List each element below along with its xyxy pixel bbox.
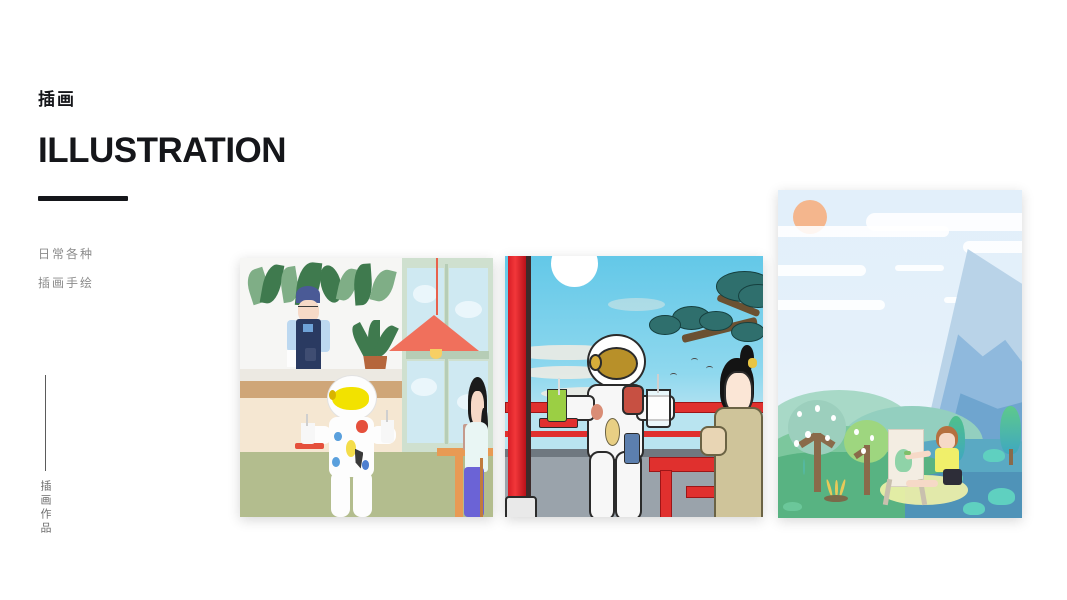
bush: [988, 488, 1015, 504]
window-cloud: [413, 285, 437, 302]
suit-shoulder-patch: [622, 385, 645, 415]
handed-cup-straw: [386, 410, 388, 421]
subtitle-line-2: 插画手绘: [38, 269, 94, 298]
green-drink-straw: [558, 378, 560, 394]
astronaut-visor: [332, 387, 368, 410]
blossom: [805, 431, 810, 437]
bush: [963, 502, 985, 515]
barista-bowtie: [303, 324, 313, 332]
handed-cup: [381, 420, 395, 443]
vertical-caption: 插画作品: [37, 480, 53, 536]
woman-robe: [714, 407, 762, 517]
suit-patch: [591, 404, 603, 420]
suit-dot-red: [356, 420, 367, 433]
suit-patch-blue: [624, 433, 640, 464]
astronaut-leg-right: [353, 471, 372, 517]
pine-canopy: [649, 315, 681, 335]
barista-napkin: [287, 350, 296, 367]
subtitle-line-1: 日常各种: [38, 240, 94, 269]
title-block: 插画 ILLUSTRATION: [38, 92, 338, 168]
woman-hair-tie: [748, 358, 757, 368]
tree-trunk: [1009, 449, 1013, 466]
astronaut-visor-knob: [589, 354, 602, 371]
page-title-en: ILLUSTRATION: [38, 133, 338, 168]
title-rule: [38, 196, 128, 201]
grass-tuft: [822, 479, 851, 505]
astronaut-figure: [562, 334, 665, 517]
pavilion-pillar: [508, 256, 526, 507]
astronaut-visor-knob: [329, 390, 336, 400]
seated-woman-figure: [711, 355, 763, 517]
cloud: [866, 213, 1022, 231]
foliage-leaf: [369, 268, 396, 305]
grass-blade: [803, 459, 806, 475]
barista-device: [305, 348, 316, 361]
blossom: [794, 440, 799, 446]
cloud: [778, 300, 885, 310]
blossom: [815, 405, 820, 411]
astronaut-leg-left: [589, 451, 616, 517]
cloud: [963, 241, 1022, 253]
pine-canopy: [731, 322, 763, 343]
grass-tuft: [798, 459, 815, 479]
page-title-cn: 插画: [38, 92, 338, 109]
astronaut-figure: [308, 375, 394, 517]
bush: [983, 449, 1005, 462]
painter-face: [939, 433, 955, 449]
painter-shorts: [943, 469, 962, 485]
woman-hands: [700, 426, 727, 456]
window-mullion-h: [406, 351, 490, 359]
lamp-bulb: [430, 349, 442, 359]
vertical-divider: [45, 375, 46, 471]
barista-glasses: [298, 306, 318, 312]
pillar-base: [505, 496, 537, 517]
woman-top: [465, 422, 487, 472]
illustration-panel-pavilion[interactable]: [505, 256, 763, 517]
lamp-cord: [436, 258, 438, 315]
pendant-lamp-shade: [389, 315, 479, 351]
astronaut-leg-left: [331, 471, 350, 517]
pine-canopy: [699, 311, 733, 332]
blossom: [854, 429, 859, 435]
grass-base: [824, 495, 847, 502]
tray-cup-straw: [306, 414, 308, 425]
cloud: [778, 265, 866, 275]
illustration-panel-landscape[interactable]: [778, 190, 1022, 518]
suit-dot-blue: [334, 432, 342, 442]
illustration-panel-cafe[interactable]: [240, 258, 493, 517]
clear-cup-straw: [657, 374, 659, 392]
cloud: [895, 265, 944, 271]
clear-cup: [646, 389, 671, 428]
seated-woman-figure: [463, 377, 493, 517]
cafe-table-leg: [455, 455, 463, 517]
paint-brush: [904, 451, 911, 455]
cafe-chair: [480, 458, 483, 517]
window-pane: [407, 361, 443, 443]
tree-crown: [1000, 406, 1020, 453]
subtitle-block: 日常各种 插画手绘: [38, 240, 94, 298]
painter-legs: [906, 480, 938, 487]
slide-canvas: 插画 ILLUSTRATION 日常各种 插画手绘 插画作品: [0, 0, 1067, 600]
barista-figure: [283, 286, 334, 379]
bush: [783, 502, 803, 512]
window-cloud: [411, 378, 437, 395]
pillar-shadow: [526, 256, 531, 507]
painter-figure: [924, 426, 968, 498]
tray-cup: [301, 423, 315, 444]
